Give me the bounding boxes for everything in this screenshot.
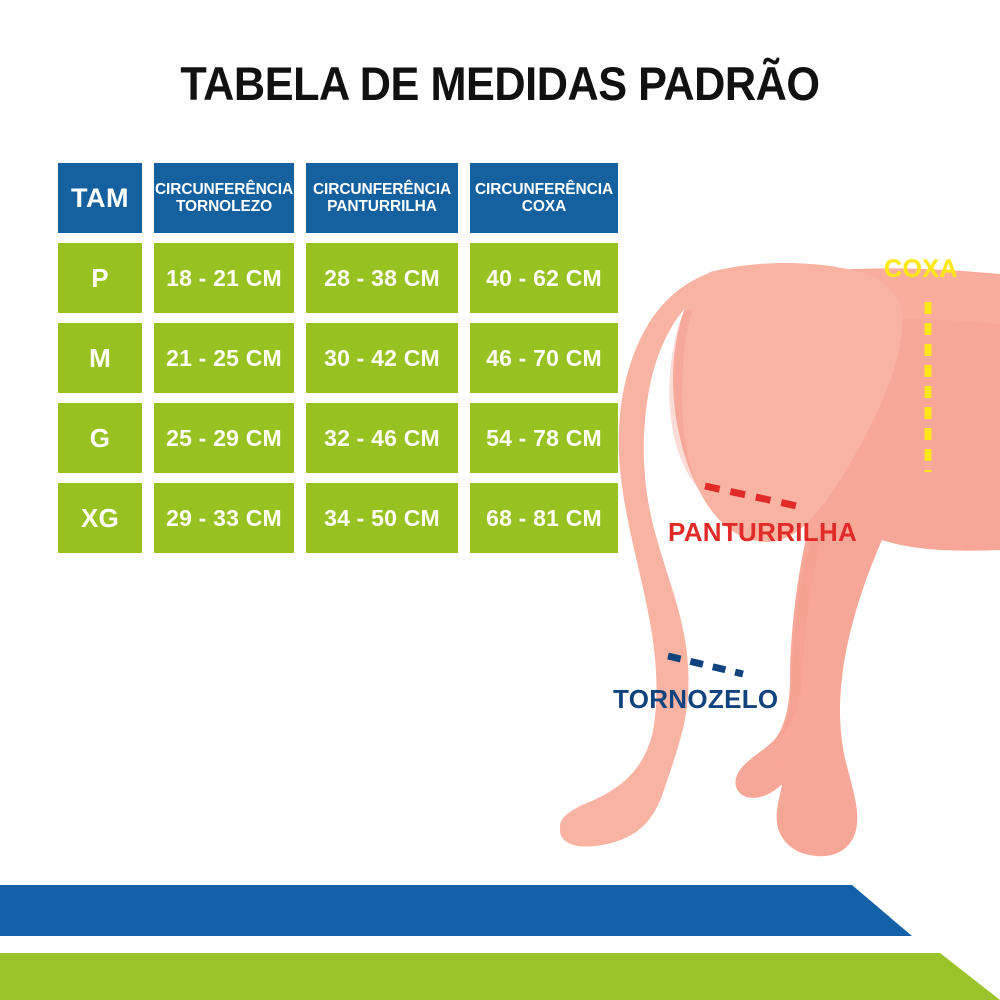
cell-size: M bbox=[58, 323, 142, 393]
header-line-2: TORNOLEZO bbox=[176, 198, 272, 215]
bottom-bar-blue bbox=[0, 885, 912, 936]
cell-size: P bbox=[58, 243, 142, 313]
table-row: P 18 - 21 CM 28 - 38 CM 40 - 62 CM bbox=[58, 243, 626, 313]
header-line-2: PANTURRILHA bbox=[327, 198, 437, 215]
table-header-tam-label: TAM bbox=[71, 183, 129, 214]
header-line-1: CIRCUNFERÊNCIA bbox=[155, 181, 293, 198]
table-header-tornozelo: CIRCUNFERÊNCIA TORNOLEZO bbox=[154, 163, 294, 233]
cell-tornozelo: 25 - 29 CM bbox=[154, 403, 294, 473]
header-line-2: COXA bbox=[522, 198, 566, 215]
label-panturrilha: PANTURRILHA bbox=[668, 517, 857, 548]
cell-panturrilha: 32 - 46 CM bbox=[306, 403, 458, 473]
table-header-panturrilha-lines: CIRCUNFERÊNCIA PANTURRILHA bbox=[313, 181, 451, 216]
cell-panturrilha: 28 - 38 CM bbox=[306, 243, 458, 313]
table-header-coxa-lines: CIRCUNFERÊNCIA COXA bbox=[475, 181, 613, 216]
size-table: TAM CIRCUNFERÊNCIA TORNOLEZO CIRCUNFERÊN… bbox=[58, 163, 626, 563]
cell-size: XG bbox=[58, 483, 142, 553]
header-line-1: CIRCUNFERÊNCIA bbox=[475, 181, 613, 198]
label-tornozelo: TORNOZELO bbox=[613, 684, 778, 715]
table-header-tornozelo-lines: CIRCUNFERÊNCIA TORNOLEZO bbox=[155, 181, 293, 216]
table-header-row: TAM CIRCUNFERÊNCIA TORNOLEZO CIRCUNFERÊN… bbox=[58, 163, 626, 233]
cell-tornozelo: 21 - 25 CM bbox=[154, 323, 294, 393]
table-header-tam: TAM bbox=[58, 163, 142, 233]
table-row: G 25 - 29 CM 32 - 46 CM 54 - 78 CM bbox=[58, 403, 626, 473]
table-header-panturrilha: CIRCUNFERÊNCIA PANTURRILHA bbox=[306, 163, 458, 233]
header-line-1: CIRCUNFERÊNCIA bbox=[313, 181, 451, 198]
table-row: XG 29 - 33 CM 34 - 50 CM 68 - 81 CM bbox=[58, 483, 626, 553]
size-chart-page: TABELA DE MEDIDAS PADRÃO TAM CIRCUNFERÊN… bbox=[0, 0, 1000, 1000]
page-title: TABELA DE MEDIDAS PADRÃO bbox=[40, 56, 960, 111]
legs-illustration bbox=[560, 250, 1000, 870]
cell-panturrilha: 30 - 42 CM bbox=[306, 323, 458, 393]
cell-tornozelo: 29 - 33 CM bbox=[154, 483, 294, 553]
label-coxa: COXA bbox=[884, 255, 958, 284]
cell-panturrilha: 34 - 50 CM bbox=[306, 483, 458, 553]
table-header-coxa: CIRCUNFERÊNCIA COXA bbox=[470, 163, 618, 233]
cell-size: G bbox=[58, 403, 142, 473]
bottom-decorative-bars bbox=[0, 860, 1000, 1000]
table-row: M 21 - 25 CM 30 - 42 CM 46 - 70 CM bbox=[58, 323, 626, 393]
bottom-bar-green bbox=[0, 953, 1000, 1000]
rear-foot-shape bbox=[735, 740, 784, 798]
cell-tornozelo: 18 - 21 CM bbox=[154, 243, 294, 313]
